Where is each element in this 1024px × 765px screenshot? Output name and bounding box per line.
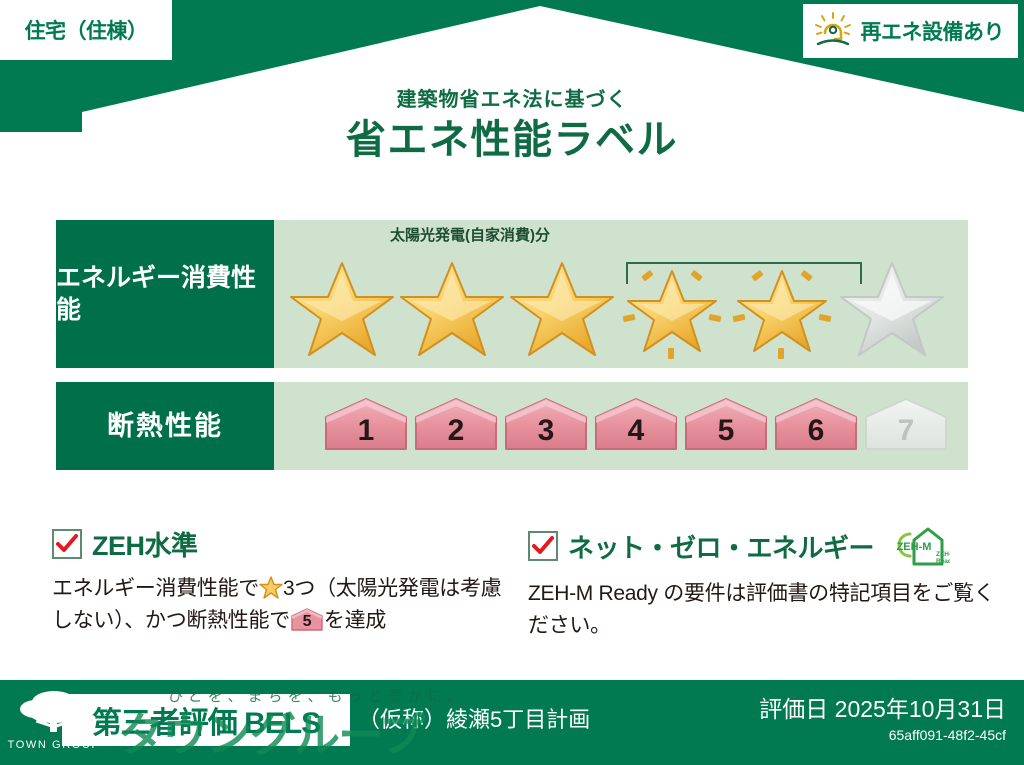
footer: 第三者評価 BELS TOWN GROUP （仮称）綾瀬5丁目計画 評価日 20… bbox=[0, 680, 1024, 765]
house-list: 1 2 3 bbox=[274, 382, 968, 470]
tree-icon bbox=[6, 686, 102, 738]
insulation-performance-label: 断熱性能 bbox=[56, 382, 274, 470]
net-zero-energy-header: ネット・ゼロ・エネルギー ZEH-M ZEH-M Ready bbox=[528, 524, 998, 568]
insulation-grade-5: 5 bbox=[682, 395, 770, 457]
insulation-grade-6-value: 6 bbox=[772, 395, 860, 457]
insulation-grade-5-value: 5 bbox=[682, 395, 770, 457]
star-5-solar bbox=[728, 256, 836, 362]
solar-generation-caption: 太陽光発電(自家消費)分 bbox=[300, 224, 640, 245]
insulation-grade-1-value: 1 bbox=[322, 395, 410, 457]
zeh-m-ready-logo: ZEH-M ZEH-M Ready bbox=[888, 524, 950, 568]
svg-text:Ready: Ready bbox=[936, 558, 950, 565]
insulation-grade-3-value: 3 bbox=[502, 395, 590, 457]
sun-renewable-icon bbox=[813, 11, 853, 51]
dwelling-type-label: 住宅（住棟） bbox=[25, 15, 148, 45]
energy-consumption-label: エネルギー消費性能 bbox=[56, 220, 274, 368]
inline-grade-value: 5 bbox=[290, 607, 324, 633]
zeh-standard-body-part1: エネルギー消費性能で bbox=[52, 577, 259, 600]
energy-performance-label: 住宅（住棟） 再エネ設備あり 建築物省エネ法に基づく bbox=[0, 0, 1024, 765]
insulation-grade-4-value: 4 bbox=[592, 395, 680, 457]
check-icon bbox=[532, 535, 554, 557]
evaluation-info: 評価日 2025年10月31日 65aff091-48f2-45cf bbox=[759, 690, 1006, 743]
check-icon bbox=[56, 533, 78, 555]
project-name: （仮称）綾瀬5丁目計画 bbox=[358, 702, 590, 734]
insulation-grade-2: 2 bbox=[412, 395, 500, 457]
insulation-grade-7-empty: 7 bbox=[862, 395, 950, 457]
svg-text:ZEH-M: ZEH-M bbox=[897, 541, 932, 553]
evaluation-id: 65aff091-48f2-45cf bbox=[759, 727, 1006, 743]
insulation-grade-2-value: 2 bbox=[412, 395, 500, 457]
insulation-grade-scale: 1 2 3 bbox=[274, 382, 968, 470]
star-2 bbox=[398, 256, 506, 362]
star-6-empty bbox=[838, 256, 946, 362]
label-title-block: 建築物省エネ法に基づく 省エネ性能ラベル bbox=[0, 88, 1024, 165]
zeh-standard-body-part3: を達成 bbox=[324, 609, 386, 632]
energy-consumption-label-text: エネルギー消費性能 bbox=[56, 262, 274, 326]
town-group-name: TOWN GROUP bbox=[6, 739, 102, 751]
bels-certification-block: 第三者評価 BELS bbox=[62, 694, 350, 746]
insulation-grade-4: 4 bbox=[592, 395, 680, 457]
evaluation-date: 評価日 2025年10月31日 bbox=[759, 690, 1006, 724]
renewable-equipment-tag: 再エネ設備あり bbox=[803, 4, 1019, 58]
label-title-sub: 建築物省エネ法に基づく bbox=[0, 88, 1024, 113]
star-3 bbox=[508, 256, 616, 362]
insulation-grade-7-value: 7 bbox=[862, 395, 950, 457]
bels-certification-text: 第三者評価 BELS bbox=[92, 698, 320, 742]
zeh-standard-checkbox[interactable] bbox=[52, 529, 82, 559]
zeh-standard-panel: ZEH水準 エネルギー消費性能で3つ（太陽光発電は考慮しない）、かつ断熱性能で5… bbox=[52, 524, 502, 636]
inline-grade-badge: 5 bbox=[290, 607, 324, 633]
insulation-performance-label-text: 断熱性能 bbox=[107, 409, 223, 444]
insulation-grade-6: 6 bbox=[772, 395, 860, 457]
star-1 bbox=[288, 256, 396, 362]
net-zero-energy-body: ZEH-M Ready の要件は評価書の特記項目をご覧ください。 bbox=[528, 578, 998, 641]
net-zero-energy-panel: ネット・ゼロ・エネルギー ZEH-M ZEH-M Ready ZEH-M Rea… bbox=[528, 524, 998, 641]
dwelling-type-tag: 住宅（住棟） bbox=[0, 0, 172, 60]
svg-text:ZEH-M: ZEH-M bbox=[936, 551, 950, 558]
net-zero-energy-checkbox[interactable] bbox=[528, 531, 558, 561]
zeh-standard-header: ZEH水準 bbox=[52, 524, 502, 563]
zeh-standard-body: エネルギー消費性能で3つ（太陽光発電は考慮しない）、かつ断熱性能で5を達成 bbox=[52, 573, 502, 636]
renewable-equipment-label: 再エネ設備あり bbox=[861, 16, 1005, 46]
insulation-grade-3: 3 bbox=[502, 395, 590, 457]
insulation-grade-1: 1 bbox=[322, 395, 410, 457]
zeh-standard-title: ZEH水準 bbox=[92, 524, 198, 563]
inline-star-icon bbox=[259, 576, 283, 599]
label-title-main: 省エネ性能ラベル bbox=[0, 115, 1024, 165]
net-zero-energy-title: ネット・ゼロ・エネルギー bbox=[568, 528, 874, 565]
insulation-performance-row: 断熱性能 1 bbox=[56, 382, 968, 470]
town-group-logo: TOWN GROUP bbox=[6, 686, 102, 760]
star-4-solar bbox=[618, 256, 726, 362]
